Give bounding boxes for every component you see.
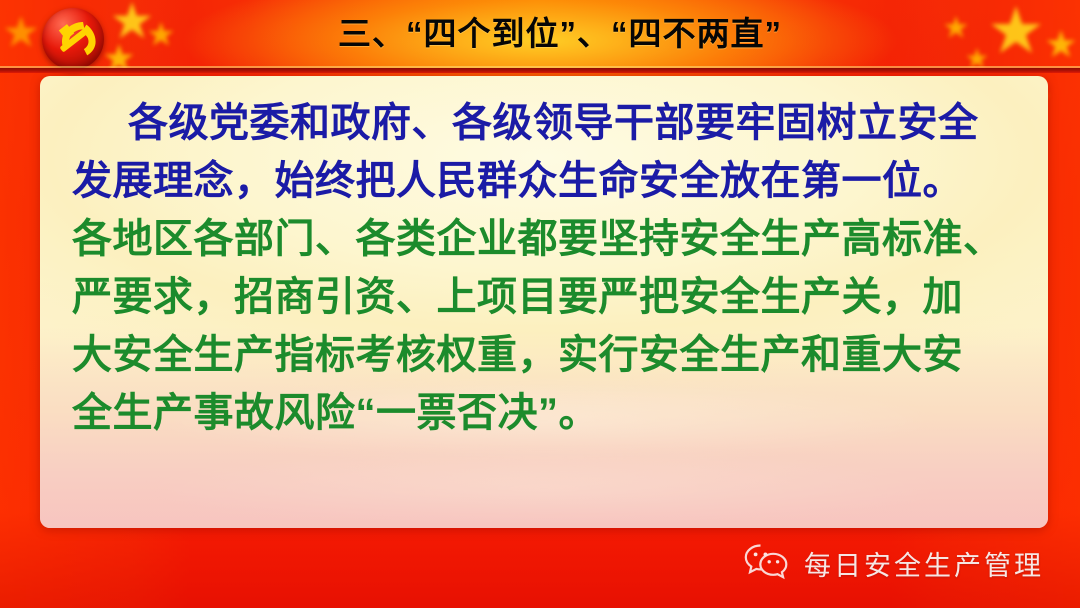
body-line: 发展理念，始终把人民群众生命安全放在第一位。: [72, 152, 1022, 210]
content-panel: 各级党委和政府、各级领导干部要牢固树立安全 发展理念，始终把人民群众生命安全放在…: [40, 76, 1048, 528]
body-line: 各级党委和政府、各级领导干部要牢固树立安全: [72, 94, 1022, 152]
slide-header: 三、“四个到位”、“四不两直”: [0, 0, 1080, 72]
slide-root: 三、“四个到位”、“四不两直” 各级党委和政府、各级领导干部要牢固树立安全 发展…: [0, 0, 1080, 608]
body-line: 各地区各部门、各类企业都要坚持安全生产高标准、: [72, 210, 1022, 268]
body-line: 全生产事故风险“一票否决”。: [72, 384, 1022, 442]
wechat-icon: [742, 541, 792, 586]
wechat-account-name: 每日安全生产管理: [804, 544, 1044, 583]
body-line: 严要求，招商引资、上项目要严把安全生产关，加: [72, 268, 1022, 326]
wechat-watermark: 每日安全生产管理: [742, 541, 1044, 586]
page-title: 三、“四个到位”、“四不两直”: [0, 0, 1080, 68]
body-line: 大安全生产指标考核权重，实行安全生产和重大安: [72, 326, 1022, 384]
body-text-block: 各级党委和政府、各级领导干部要牢固树立安全 发展理念，始终把人民群众生命安全放在…: [72, 94, 1022, 442]
header-divider: [0, 68, 1080, 73]
